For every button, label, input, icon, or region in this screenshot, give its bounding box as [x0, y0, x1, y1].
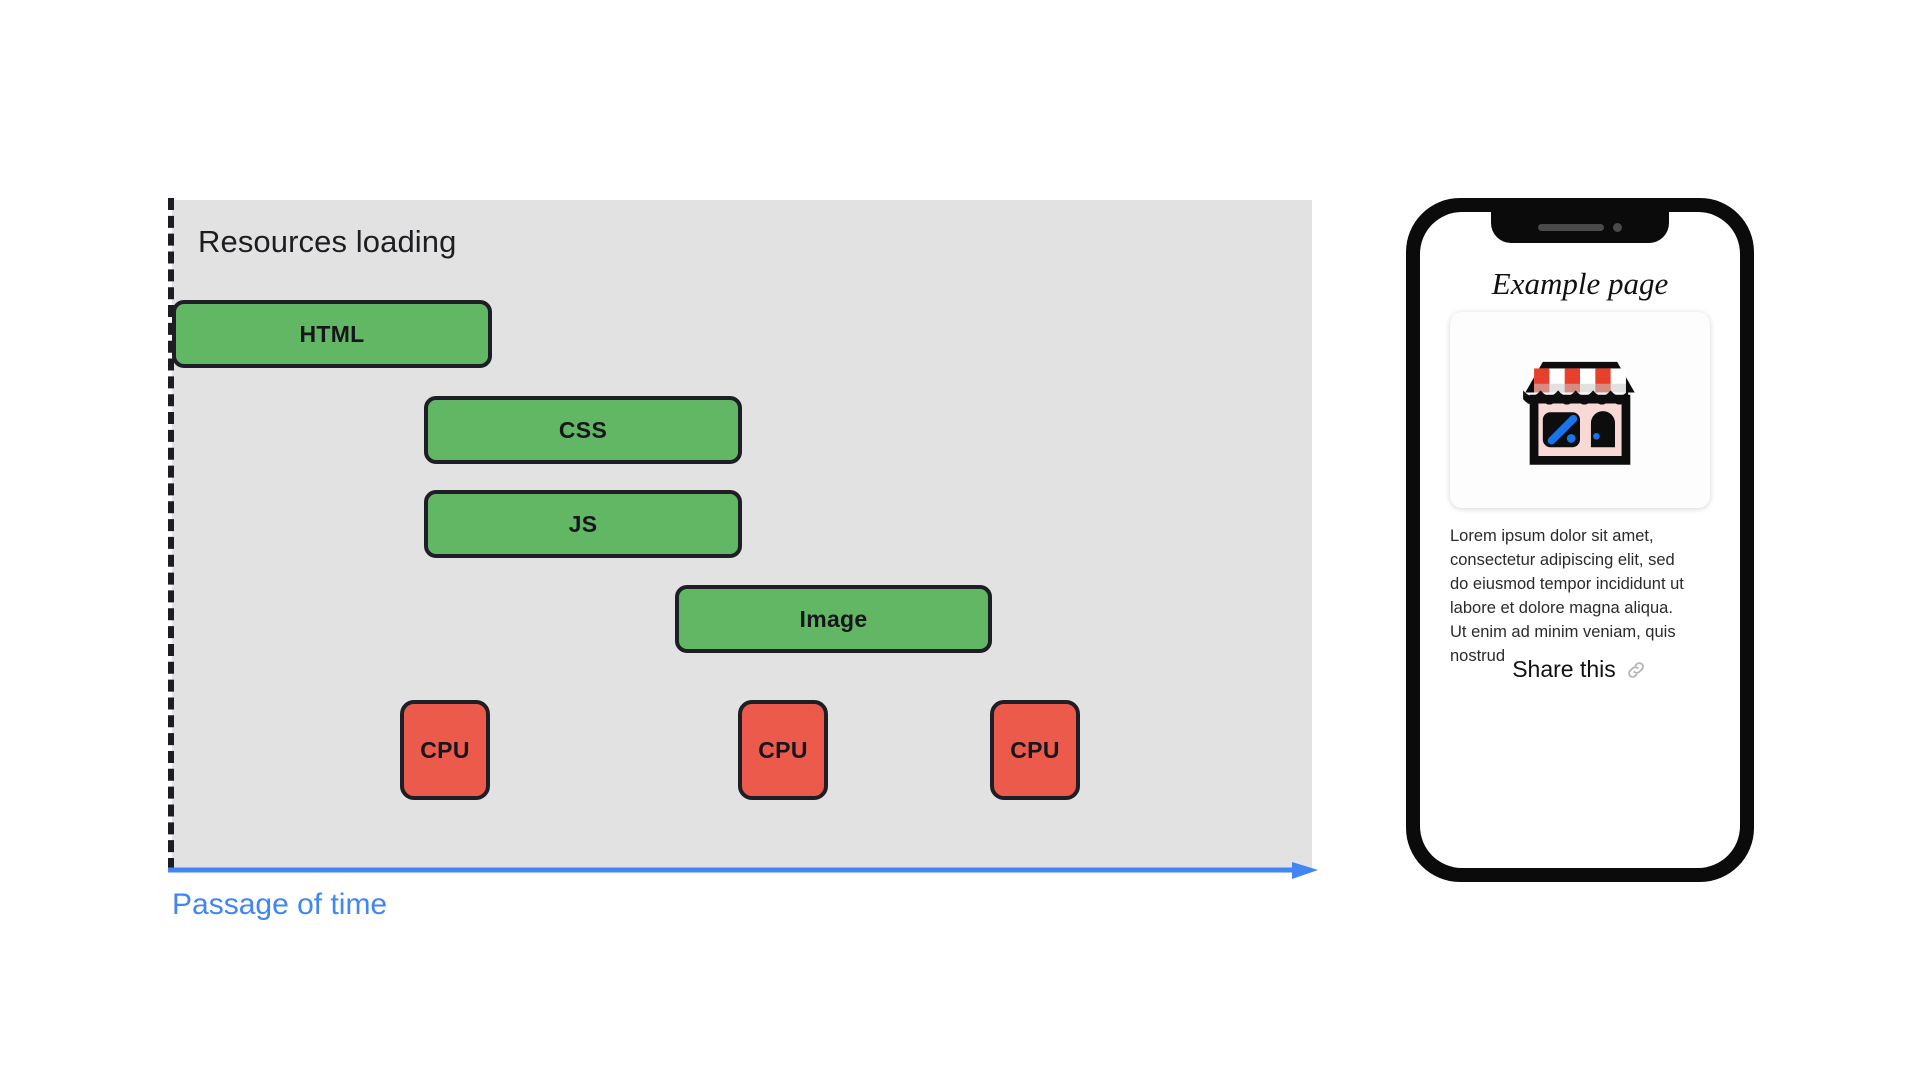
resource-bar-label: CSS	[559, 417, 607, 444]
time-axis-arrow	[168, 862, 1318, 886]
share-this-label: Share this	[1512, 656, 1616, 683]
page-title: Resources loading	[198, 224, 456, 260]
resource-bar-image: Image	[675, 585, 992, 653]
phone-mockup: Example page	[1406, 198, 1754, 882]
cpu-task-label: CPU	[420, 737, 469, 764]
cpu-task-box-3: CPU	[990, 700, 1080, 800]
time-axis-label: Passage of time	[172, 888, 387, 922]
resource-bar-html: HTML	[172, 300, 492, 368]
resource-bar-label: Image	[800, 606, 868, 633]
phone-notch	[1491, 212, 1669, 243]
phone-screen: Example page	[1420, 212, 1740, 868]
speaker-grille-icon	[1538, 224, 1604, 231]
resource-bar-js: JS	[424, 490, 742, 558]
resource-bar-css: CSS	[424, 396, 742, 464]
cpu-task-box-2: CPU	[738, 700, 828, 800]
front-camera-icon	[1613, 223, 1622, 232]
link-icon	[1624, 658, 1648, 682]
resource-bar-label: JS	[569, 511, 598, 538]
example-page-heading: Example page	[1420, 266, 1740, 302]
timeline-start-marker	[168, 198, 174, 870]
cpu-task-label: CPU	[758, 737, 807, 764]
body-paragraph: Lorem ipsum dolor sit amet, consectetur …	[1450, 524, 1686, 668]
storefront-icon	[1510, 340, 1650, 480]
resource-bar-label: HTML	[299, 321, 364, 348]
share-this-link[interactable]: Share this	[1420, 656, 1740, 683]
image-card	[1450, 312, 1710, 508]
cpu-task-label: CPU	[1010, 737, 1059, 764]
cpu-task-box-1: CPU	[400, 700, 490, 800]
